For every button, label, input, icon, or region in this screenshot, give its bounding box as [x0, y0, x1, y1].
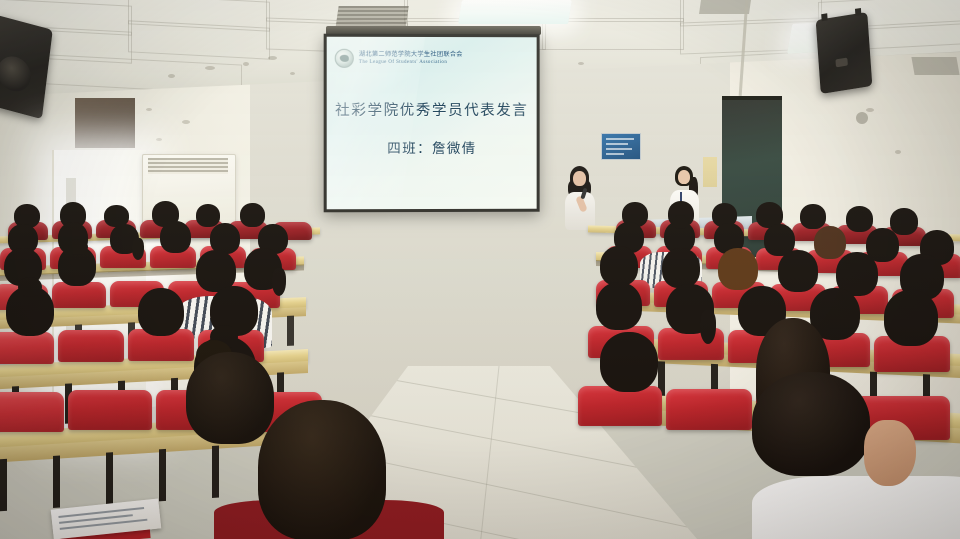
student-foreground-left — [258, 400, 386, 539]
seat — [58, 330, 124, 362]
ceiling-vent-icon — [699, 0, 751, 14]
ceiling-vent-icon — [911, 57, 959, 75]
seat — [666, 389, 752, 430]
presentation-slide: 湖北第二师范学院大学生社团联合会 The League Of Students'… — [327, 37, 537, 210]
ceiling-light-icon — [458, 0, 572, 24]
seat — [0, 392, 64, 432]
face — [573, 171, 586, 186]
seat — [0, 332, 54, 364]
wall-knob-icon — [856, 112, 868, 124]
torso — [752, 476, 960, 539]
lecture-hall-photo: 湖北第二师范学院大学生社团联合会 The League Of Students'… — [0, 0, 960, 539]
face — [678, 170, 690, 184]
seat — [68, 390, 152, 430]
student-foreground-ponytail — [186, 352, 274, 444]
wall-notice — [703, 157, 717, 187]
wall-panel — [75, 98, 135, 148]
wall-sign — [601, 133, 641, 160]
speaker-icon — [816, 12, 873, 94]
face — [864, 420, 916, 486]
air-conditioner-grille-icon — [148, 158, 228, 174]
seat — [578, 386, 662, 426]
screen-glare — [327, 37, 426, 210]
projector-screen: 湖北第二师范学院大学生社团联合会 The League Of Students'… — [324, 34, 540, 213]
student-foreground-white-shirt — [752, 372, 960, 539]
hair — [752, 372, 870, 476]
